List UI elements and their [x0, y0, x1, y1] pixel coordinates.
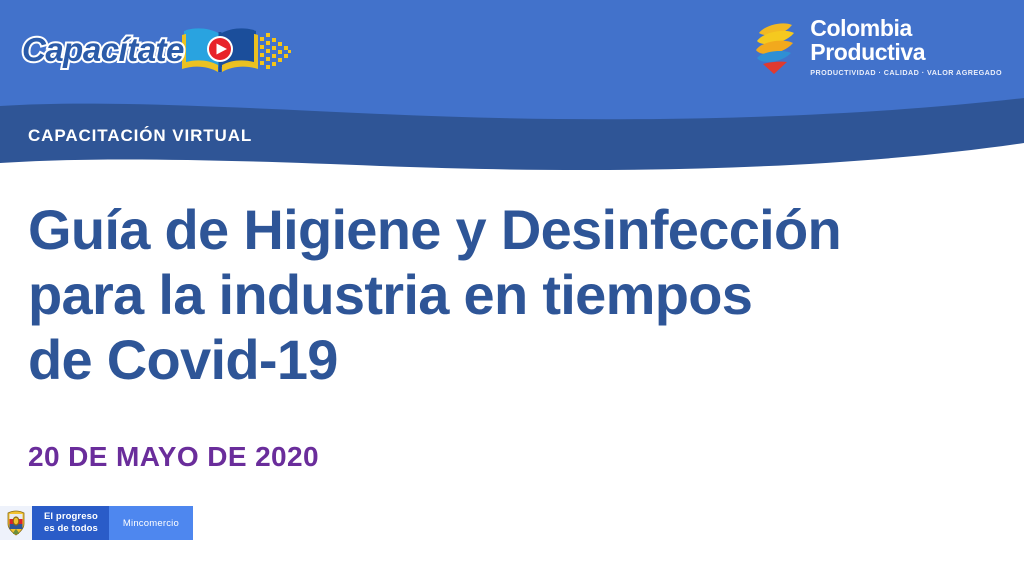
cp-line-1: Colombia — [810, 17, 1002, 40]
mincomercio-label: Mincomercio — [123, 518, 179, 529]
colombia-coat-of-arms-icon — [0, 506, 32, 540]
progreso-line-1: El progreso — [44, 511, 98, 523]
capacitate-logo: Capacítate — [22, 18, 272, 80]
open-book-play-icon — [180, 21, 292, 77]
kicker-label: CAPACITACIÓN VIRTUAL — [28, 126, 252, 146]
colombia-productiva-logo: Colombia Productiva PRODUCTIVIDAD · CALI… — [749, 14, 1002, 80]
title-line-2: para la industria en tiempos — [28, 263, 958, 328]
colombia-productiva-swirl-icon — [749, 17, 801, 77]
progreso-line-2: es de todos — [44, 523, 98, 535]
mincomercio-block: Mincomercio — [109, 506, 193, 540]
slide-root: Capacítate — [0, 0, 1024, 576]
capacitate-wordmark: Capacítate — [22, 33, 184, 66]
cp-line-2: Productiva — [810, 41, 1002, 64]
title-line-3: de Covid-19 — [28, 328, 958, 393]
event-date: 20 DE MAYO DE 2020 — [28, 441, 319, 473]
colombia-productiva-text: Colombia Productiva PRODUCTIVIDAD · CALI… — [810, 17, 1002, 76]
cp-tagline: PRODUCTIVIDAD · CALIDAD · VALOR AGREGADO — [810, 69, 1002, 76]
el-progreso-block: El progreso es de todos — [32, 506, 109, 540]
page-title: Guía de Higiene y Desinfección para la i… — [28, 198, 958, 393]
title-line-1: Guía de Higiene y Desinfección — [28, 198, 958, 263]
government-logo-bar: El progreso es de todos Mincomercio — [0, 506, 193, 540]
